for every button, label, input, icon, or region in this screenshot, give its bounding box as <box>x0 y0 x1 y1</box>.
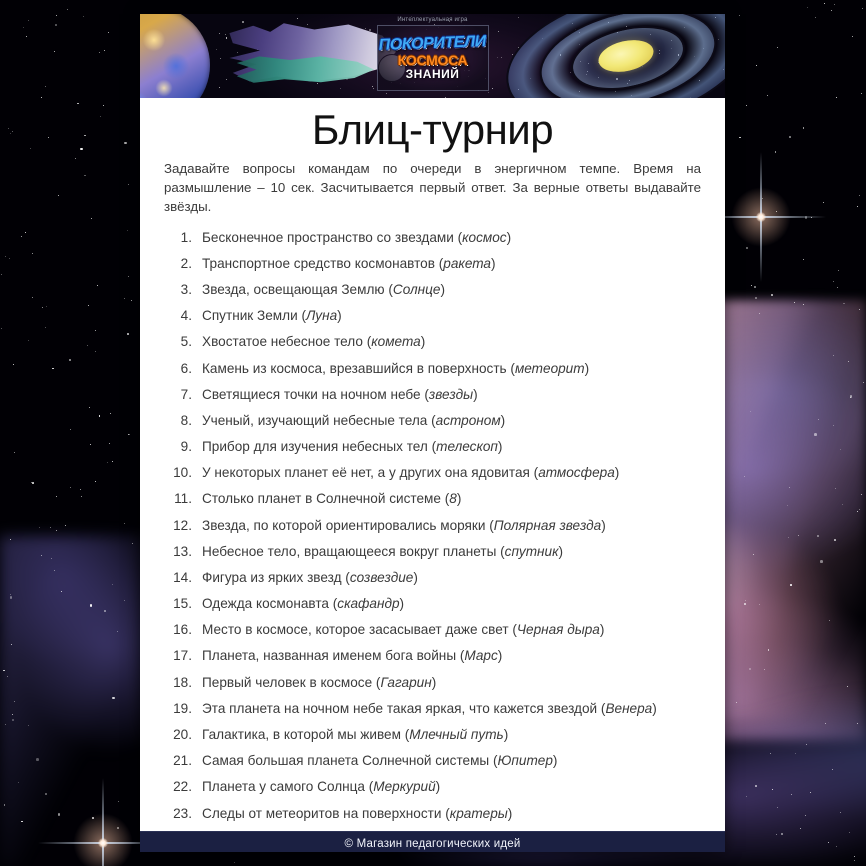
star-icon <box>80 489 81 490</box>
star-icon <box>744 603 746 605</box>
question-paren-close: ) <box>508 806 513 821</box>
star-icon <box>850 395 853 398</box>
star-icon <box>54 51 55 52</box>
question-paren-close: ) <box>440 282 445 297</box>
star-icon <box>777 47 778 48</box>
star-icon <box>45 793 47 795</box>
star-icon <box>828 842 829 843</box>
star-icon <box>739 137 741 139</box>
star-icon <box>87 345 88 346</box>
star-icon <box>127 333 129 335</box>
star-icon <box>69 359 71 361</box>
star-icon <box>124 600 125 601</box>
star-icon <box>5 256 6 257</box>
question-paren-close: ) <box>457 491 462 506</box>
star-icon <box>835 488 836 489</box>
star-icon <box>124 523 125 524</box>
question-text: Спутник Земли ( <box>202 308 306 323</box>
star-icon <box>129 434 130 435</box>
star-icon <box>764 669 765 670</box>
question-answer: ракета <box>443 256 491 271</box>
star-icon <box>818 419 819 420</box>
star-icon <box>14 452 15 453</box>
star-icon <box>9 258 10 259</box>
star-icon <box>751 285 752 286</box>
star-icon <box>852 36 853 37</box>
star-icon <box>32 297 33 298</box>
star-icon <box>836 846 837 847</box>
question-answer: телескоп <box>436 439 498 454</box>
star-icon <box>840 449 841 450</box>
star-icon <box>23 27 24 28</box>
star-icon <box>790 584 792 586</box>
star-icon <box>5 724 6 725</box>
logo-line-znaniy: ЗНАНИЙ <box>406 68 460 80</box>
star-icon <box>772 789 773 790</box>
star-icon <box>56 15 57 16</box>
question-paren-close: ) <box>652 701 657 716</box>
star-icon <box>771 294 773 296</box>
question-item: Бесконечное пространство со звездами (ко… <box>164 229 701 247</box>
star-icon <box>70 487 72 489</box>
star-icon <box>58 813 61 816</box>
star-icon <box>823 202 824 203</box>
question-paren-close: ) <box>585 361 590 376</box>
star-icon <box>95 330 96 331</box>
star-icon <box>107 462 108 463</box>
star-icon <box>39 527 40 528</box>
star-icon <box>219 33 220 34</box>
star-icon <box>787 505 788 506</box>
star-icon <box>234 862 235 863</box>
star-icon <box>767 95 768 96</box>
question-text: Небесное тело, вращающееся вокруг планет… <box>202 544 505 559</box>
star-icon <box>795 753 796 754</box>
star-icon <box>118 801 119 802</box>
question-item: Самая большая планета Солнечной системы … <box>164 752 701 770</box>
question-text: Столько планет в Солнечной системе ( <box>202 491 449 506</box>
star-icon <box>83 16 84 17</box>
question-item: Прибор для изучения небесных тел (телеск… <box>164 438 701 456</box>
question-paren-close: ) <box>400 596 405 611</box>
header-banner: Интеллектуальная игра ПОКОРИТЕЛИ КОСМОСА… <box>140 14 725 98</box>
star-icon <box>84 175 86 177</box>
star-icon <box>95 351 96 352</box>
star-icon <box>863 382 864 383</box>
star-icon <box>61 591 62 592</box>
star-icon <box>28 20 29 21</box>
question-item: У некоторых планет её нет, а у других он… <box>164 464 701 482</box>
star-icon <box>77 103 79 105</box>
question-item: Камень из космоса, врезавшийся в поверхн… <box>164 360 701 378</box>
star-icon <box>831 10 832 11</box>
question-text: Камень из космоса, врезавшийся в поверхн… <box>202 361 515 376</box>
question-text: Звезда, освещающая Землю ( <box>202 282 393 297</box>
star-icon <box>70 429 71 430</box>
question-list: Бесконечное пространство со звездами (ко… <box>164 229 701 822</box>
star-icon <box>54 570 55 571</box>
star-icon <box>112 584 113 585</box>
question-answer: Млечный путь <box>409 727 503 742</box>
star-icon <box>56 530 57 531</box>
star-icon <box>838 270 839 271</box>
star-icon <box>88 305 89 306</box>
question-answer: Гагарин <box>380 675 431 690</box>
star-icon <box>861 93 862 94</box>
star-icon <box>756 65 757 66</box>
question-paren-close: ) <box>498 439 503 454</box>
question-paren-close: ) <box>337 308 342 323</box>
question-paren-close: ) <box>559 544 564 559</box>
question-answer: космос <box>462 230 506 245</box>
star-icon <box>12 719 14 721</box>
star-icon <box>832 769 833 770</box>
star-icon <box>755 297 757 299</box>
question-text: Транспортное средство космонавтов ( <box>202 256 443 271</box>
star-icon <box>810 792 811 793</box>
star-icon <box>744 476 745 477</box>
question-item: Эта планета на ночном небе такая яркая, … <box>164 700 701 718</box>
star-icon <box>745 600 746 601</box>
question-answer: Солнце <box>393 282 441 297</box>
star-icon <box>806 744 807 745</box>
star-icon <box>99 52 100 53</box>
star-icon <box>750 411 751 412</box>
star-icon <box>800 828 801 829</box>
star-icon <box>789 487 790 488</box>
star-icon <box>836 97 837 98</box>
star-icon <box>10 133 11 134</box>
star-icon <box>814 433 817 436</box>
star-icon <box>834 539 836 541</box>
poster-stage: Интеллектуальная игра ПОКОРИТЕЛИ КОСМОСА… <box>0 0 866 866</box>
star-icon <box>104 610 106 612</box>
star-icon <box>498 31 499 32</box>
star-icon <box>791 794 792 795</box>
bright-star-icon <box>760 216 761 217</box>
star-icon <box>26 36 27 37</box>
question-text: У некоторых планет её нет, а у других он… <box>202 465 538 480</box>
star-icon <box>95 481 96 482</box>
question-paren-close: ) <box>507 230 512 245</box>
question-item: Спутник Земли (Луна) <box>164 307 701 325</box>
question-item: Первый человек в космосе (Гагарин) <box>164 674 701 692</box>
star-icon <box>124 298 125 299</box>
question-text: Самая большая планета Солнечной системы … <box>202 753 498 768</box>
star-icon <box>91 218 92 219</box>
logo-tagline: Интеллектуальная игра <box>397 17 467 23</box>
footer-bar: © Магазин педагогических идей <box>140 831 725 852</box>
star-icon <box>41 97 42 98</box>
star-icon <box>820 560 823 563</box>
question-text: Планета у самого Солнца ( <box>202 779 373 794</box>
star-icon <box>753 554 754 555</box>
star-icon <box>859 309 860 310</box>
star-icon <box>736 702 737 703</box>
star-icon <box>7 676 8 677</box>
question-paren-close: ) <box>601 518 606 533</box>
question-text: Планета, названная именем бога войны ( <box>202 648 464 663</box>
game-logo: Интеллектуальная игра ПОКОРИТЕЛИ КОСМОСА… <box>374 14 492 98</box>
star-icon <box>1 274 2 275</box>
star-icon <box>100 116 101 117</box>
star-icon <box>817 535 819 537</box>
star-icon <box>99 415 101 417</box>
star-icon <box>849 832 850 833</box>
star-icon <box>32 482 34 484</box>
question-answer: скафандр <box>337 596 399 611</box>
star-icon <box>859 509 860 510</box>
question-answer: метеорит <box>515 361 585 376</box>
question-text: Светящиеся точки на ночном небе ( <box>202 387 429 402</box>
star-icon <box>14 701 15 702</box>
star-icon <box>807 7 808 8</box>
question-answer: Юпитер <box>498 753 553 768</box>
star-icon <box>3 670 5 672</box>
galaxy-icon <box>501 14 725 98</box>
question-text: Прибор для изучения небесных тел ( <box>202 439 436 454</box>
star-icon <box>8 128 9 129</box>
question-paren-close: ) <box>491 256 496 271</box>
question-text: Звезда, по которой ориентировались моряк… <box>202 518 494 533</box>
star-icon <box>103 105 104 106</box>
question-answer: астроном <box>436 413 501 428</box>
question-text: Фигура из ярких звезд ( <box>202 570 350 585</box>
star-icon <box>18 782 19 783</box>
bright-star-lower-icon <box>102 842 103 843</box>
question-text: Галактика, в которой мы живем ( <box>202 727 409 742</box>
question-item: Планета, названная именем бога войны (Ма… <box>164 647 701 665</box>
star-icon <box>110 413 111 414</box>
question-answer: спутник <box>505 544 559 559</box>
star-icon <box>112 461 113 462</box>
star-icon <box>31 482 32 483</box>
star-icon <box>833 425 834 426</box>
star-icon <box>48 137 49 138</box>
star-icon <box>794 302 795 303</box>
question-item: Звезда, по которой ориентировались моряк… <box>164 517 701 535</box>
star-icon <box>42 307 43 308</box>
star-icon <box>857 511 858 512</box>
question-paren-close: ) <box>501 413 506 428</box>
question-text: Первый человек в космосе ( <box>202 675 380 690</box>
star-icon <box>854 860 855 861</box>
question-item: Столько планет в Солнечной системе (8) <box>164 490 701 508</box>
star-icon <box>861 494 862 495</box>
star-icon <box>746 796 747 797</box>
star-icon <box>220 58 221 59</box>
question-text: Место в космосе, которое засасывает даже… <box>202 622 517 637</box>
star-icon <box>21 236 22 237</box>
star-icon <box>45 86 46 87</box>
question-paren-close: ) <box>504 727 509 742</box>
star-icon <box>25 232 26 233</box>
star-icon <box>857 723 858 724</box>
star-icon <box>51 558 52 559</box>
star-icon <box>28 340 29 341</box>
star-icon <box>216 49 217 50</box>
question-paren-close: ) <box>421 334 426 349</box>
star-icon <box>46 306 47 307</box>
star-icon <box>89 407 90 408</box>
star-icon <box>754 286 756 288</box>
star-icon <box>746 247 748 249</box>
star-icon <box>768 649 770 651</box>
star-icon <box>4 804 6 806</box>
star-icon <box>788 537 789 538</box>
worksheet-body: Блиц-турнир Задавайте вопросы командам п… <box>140 98 725 831</box>
question-paren-close: ) <box>553 753 558 768</box>
star-icon <box>859 195 860 196</box>
star-icon <box>13 364 14 365</box>
star-icon <box>824 3 825 4</box>
star-icon <box>10 539 11 540</box>
star-icon <box>759 313 760 314</box>
star-icon <box>65 525 66 526</box>
star-icon <box>739 15 740 16</box>
star-icon <box>30 148 31 149</box>
star-icon <box>803 304 804 305</box>
star-icon <box>58 195 59 196</box>
star-icon <box>833 355 834 356</box>
question-answer: звезды <box>429 387 473 402</box>
star-icon <box>128 184 129 185</box>
question-answer: Венера <box>605 701 652 716</box>
star-icon <box>843 303 845 305</box>
page-title: Блиц-турнир <box>164 108 701 152</box>
star-icon <box>56 496 57 497</box>
worksheet-card: Интеллектуальная игра ПОКОРИТЕЛИ КОСМОСА… <box>140 14 725 852</box>
star-icon <box>770 753 771 754</box>
star-icon <box>11 644 12 645</box>
star-icon <box>834 4 835 5</box>
star-icon <box>124 142 127 145</box>
star-icon <box>798 535 799 536</box>
question-item: Транспортное средство космонавтов (ракет… <box>164 255 701 273</box>
star-icon <box>45 327 46 328</box>
question-answer: кратеры <box>450 806 508 821</box>
star-icon <box>32 253 33 254</box>
star-icon <box>84 135 86 137</box>
star-icon <box>862 8 863 9</box>
star-icon <box>854 856 855 857</box>
star-icon <box>109 443 110 444</box>
question-paren-close: ) <box>615 465 620 480</box>
star-icon <box>219 87 220 88</box>
logo-line-pokoriteli: ПОКОРИТЕЛИ <box>378 34 487 54</box>
question-item: Небесное тело, вращающееся вокруг планет… <box>164 543 701 561</box>
copyright-text: © Магазин педагогических идей <box>345 838 521 850</box>
question-item: Одежда космонавта (скафандр) <box>164 595 701 613</box>
star-icon <box>55 24 57 26</box>
star-icon <box>805 815 806 816</box>
star-icon <box>837 287 838 288</box>
star-icon <box>108 32 109 33</box>
star-icon <box>90 604 93 607</box>
star-icon <box>746 105 747 106</box>
question-answer: атмосфера <box>538 465 615 480</box>
star-icon <box>131 300 133 302</box>
star-icon <box>815 17 816 18</box>
star-icon <box>127 230 128 231</box>
question-answer: созвездие <box>350 570 414 585</box>
star-icon <box>36 758 39 761</box>
star-icon <box>21 821 23 823</box>
question-item: Хвостатое небесное тело (комета) <box>164 333 701 351</box>
question-paren-close: ) <box>600 622 605 637</box>
star-icon <box>492 88 493 89</box>
star-icon <box>28 725 29 726</box>
question-item: Фигура из ярких звезд (созвездие) <box>164 569 701 587</box>
star-icon <box>847 686 848 687</box>
star-icon <box>777 807 778 808</box>
star-icon <box>848 361 849 362</box>
star-icon <box>776 834 777 835</box>
question-text: Одежда космонавта ( <box>202 596 337 611</box>
star-icon <box>775 151 777 153</box>
star-icon <box>497 57 498 58</box>
question-answer: Полярная звезда <box>494 518 601 533</box>
star-icon <box>749 668 751 670</box>
star-icon <box>41 555 42 556</box>
logo-frame: ПОКОРИТЕЛИ КОСМОСА ЗНАНИЙ <box>377 25 489 91</box>
question-item: Ученый, изучающий небесные тела (астроно… <box>164 412 701 430</box>
question-item: Планета у самого Солнца (Меркурий) <box>164 778 701 796</box>
question-paren-close: ) <box>432 675 437 690</box>
star-icon <box>825 723 826 724</box>
star-icon <box>10 596 13 599</box>
star-icon <box>104 50 105 51</box>
logo-line-kosmosa: КОСМОСА <box>398 53 468 67</box>
star-icon <box>829 620 830 621</box>
star-icon <box>803 259 804 260</box>
star-icon <box>90 444 91 445</box>
star-icon <box>842 504 843 505</box>
question-answer: Меркурий <box>373 779 435 794</box>
question-answer: Марс <box>464 648 497 663</box>
question-item: Светящиеся точки на ночном небе (звезды) <box>164 386 701 404</box>
star-icon <box>128 276 129 277</box>
star-icon <box>857 206 858 207</box>
question-answer: Черная дыра <box>517 622 600 637</box>
star-icon <box>789 136 791 138</box>
star-icon <box>50 527 51 528</box>
question-item: Следы от метеоритов на поверхности (крат… <box>164 805 701 823</box>
question-text: Хвостатое небесное тело ( <box>202 334 371 349</box>
star-icon <box>759 604 760 605</box>
question-paren-close: ) <box>498 648 503 663</box>
question-answer: комета <box>371 334 420 349</box>
star-icon <box>1 328 2 329</box>
question-text: Следы от метеоритов на поверхности ( <box>202 806 450 821</box>
intro-paragraph: Задавайте вопросы командам по очереди в … <box>164 160 701 217</box>
star-icon <box>12 131 13 132</box>
question-text: Бесконечное пространство со звездами ( <box>202 230 462 245</box>
question-answer: Луна <box>306 308 337 323</box>
star-icon <box>81 496 82 497</box>
question-answer: 8 <box>449 491 457 506</box>
question-paren-close: ) <box>436 779 441 794</box>
question-paren-close: ) <box>413 570 418 585</box>
star-icon <box>840 812 841 813</box>
question-text: Ученый, изучающий небесные тела ( <box>202 413 436 428</box>
question-item: Звезда, освещающая Землю (Солнце) <box>164 281 701 299</box>
question-item: Галактика, в которой мы живем (Млечный п… <box>164 726 701 744</box>
question-text: Эта планета на ночном небе такая яркая, … <box>202 701 605 716</box>
star-icon <box>75 158 76 159</box>
star-icon <box>80 148 83 151</box>
star-icon <box>97 285 98 286</box>
